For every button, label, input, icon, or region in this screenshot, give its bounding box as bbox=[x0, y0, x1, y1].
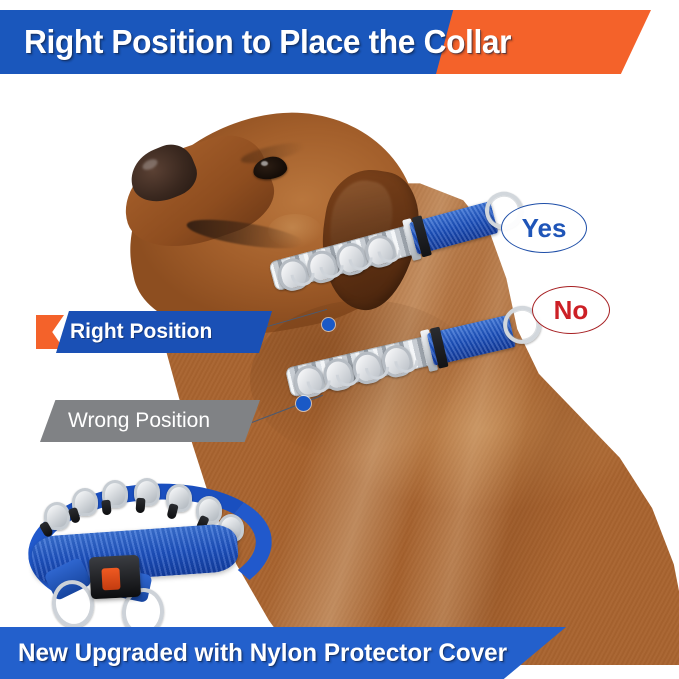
product-collar-photo bbox=[22, 468, 252, 620]
footer-text: New Upgraded with Nylon Protector Cover bbox=[18, 634, 542, 672]
rubber-tip bbox=[135, 498, 145, 514]
header-title-part1: Right Position to Place the bbox=[24, 23, 415, 61]
rubber-tip bbox=[166, 503, 178, 520]
buckle-release-button bbox=[101, 568, 120, 591]
callout-wrong-position[interactable]: Wrong Position bbox=[40, 400, 280, 442]
rubber-tip bbox=[101, 500, 112, 516]
header-title-part2: Collar bbox=[424, 23, 511, 61]
infographic-canvas: Right Position to Place the Collar Right… bbox=[0, 0, 679, 679]
callout-right-position[interactable]: Right Position bbox=[36, 311, 276, 353]
badge-yes: Yes bbox=[501, 203, 587, 253]
header-title: Right Position to Place the Collar bbox=[24, 14, 638, 70]
leader-endpoint-right bbox=[322, 318, 335, 331]
leader-endpoint-wrong bbox=[296, 396, 311, 411]
callout-right-position-label: Right Position bbox=[70, 311, 270, 353]
badge-no: No bbox=[532, 286, 610, 334]
callout-wrong-position-label: Wrong Position bbox=[68, 400, 268, 442]
header-banner: Right Position to Place the Collar bbox=[0, 0, 679, 90]
dog-eye-highlight bbox=[261, 161, 268, 166]
